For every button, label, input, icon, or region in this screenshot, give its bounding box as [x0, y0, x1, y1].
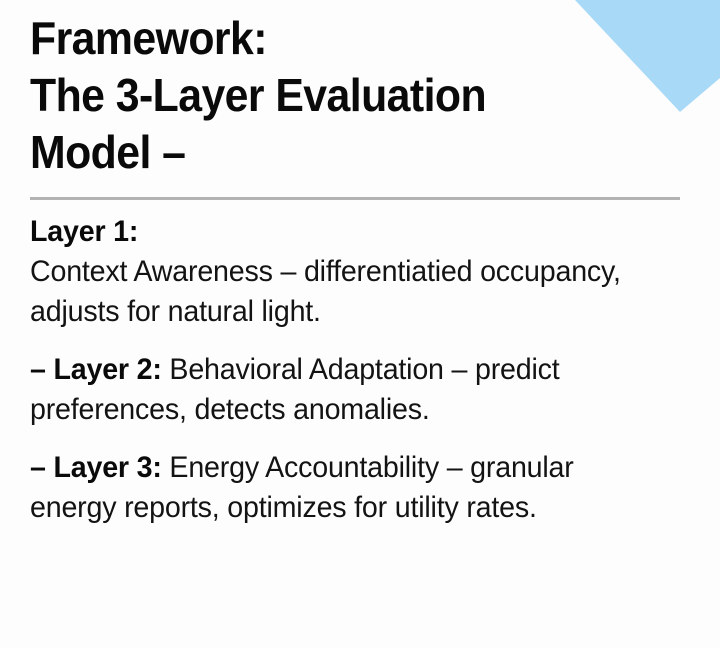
layer-1-label: Layer 1: — [30, 215, 138, 248]
title-line-2: The 3-Layer Evaluation — [30, 67, 636, 124]
slide-content: Framework: The 3-Layer Evaluation Model … — [30, 10, 682, 528]
page-title: Framework: The 3-Layer Evaluation Model … — [30, 10, 682, 181]
layer-1-body: Context Awareness – differentiatied occu… — [30, 255, 621, 328]
slide-canvas: Framework: The 3-Layer Evaluation Model … — [0, 0, 720, 648]
layer-item-2: – Layer 2: Behavioral Adaptation – predi… — [30, 350, 662, 430]
title-divider-rule — [30, 197, 680, 200]
layer-item-3: – Layer 3: Energy Accountability – granu… — [30, 448, 662, 528]
title-line-1: Framework: — [30, 10, 636, 67]
layer-3-dash: – — [30, 451, 53, 484]
layer-2-dash: – — [30, 353, 53, 386]
layer-2-label: Layer 2: — [53, 353, 161, 386]
layer-item-1: Layer 1: Context Awareness – differentia… — [30, 212, 662, 332]
title-line-3: Model – — [30, 124, 636, 181]
layer-3-label: Layer 3: — [53, 451, 161, 484]
